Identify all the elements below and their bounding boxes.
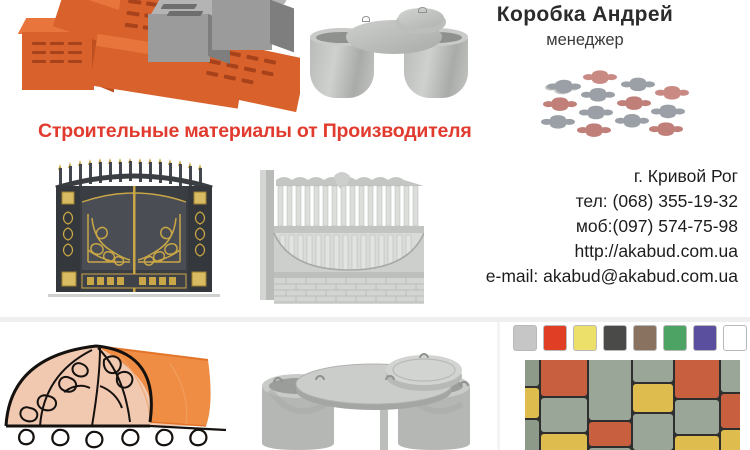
concrete-block-back bbox=[210, 0, 300, 62]
swatch-yellow[interactable] bbox=[573, 325, 597, 351]
contact-email[interactable]: e-mail: akabud@akabud.com.ua bbox=[400, 264, 738, 289]
contact-website[interactable]: http://akabud.com.ua bbox=[400, 239, 738, 264]
concrete-fence-image bbox=[258, 162, 424, 308]
swatch-red[interactable] bbox=[543, 325, 567, 351]
septic-tank-image bbox=[252, 332, 492, 450]
swatch-green[interactable] bbox=[663, 325, 687, 351]
person-name: Коробка Андрей bbox=[430, 2, 740, 28]
iron-gate-image bbox=[34, 158, 234, 308]
contact-details: г. Кривой Рог тел: (068) 355-19-32 моб:(… bbox=[400, 164, 738, 289]
color-swatch-row bbox=[513, 325, 743, 351]
paving-tiles-image bbox=[525, 360, 740, 450]
swatch-white[interactable] bbox=[723, 325, 747, 351]
section-divider bbox=[0, 317, 750, 322]
contact-city: г. Кривой Рог bbox=[400, 164, 738, 189]
ceramic-bricks-image bbox=[0, 0, 300, 118]
swatch-dark-gray[interactable] bbox=[603, 325, 627, 351]
flower-pavers-svg bbox=[520, 48, 700, 148]
business-card: Строительные материалы от Производителя … bbox=[0, 0, 750, 450]
tagline: Строительные материалы от Производителя bbox=[38, 118, 518, 144]
swatch-purple[interactable] bbox=[693, 325, 717, 351]
contact-mobile: моб:(097) 574-75-98 bbox=[400, 214, 738, 239]
flower-pavers-image bbox=[520, 48, 700, 148]
contact-phone: тел: (068) 355-19-32 bbox=[400, 189, 738, 214]
swatch-gray[interactable] bbox=[513, 325, 537, 351]
right-panel-edge bbox=[497, 322, 500, 450]
panel-gap-left bbox=[232, 322, 252, 450]
canopy-image bbox=[0, 330, 232, 450]
contact-person-block: Коробка Андрей менеджер bbox=[430, 2, 740, 51]
swatch-brown[interactable] bbox=[633, 325, 657, 351]
